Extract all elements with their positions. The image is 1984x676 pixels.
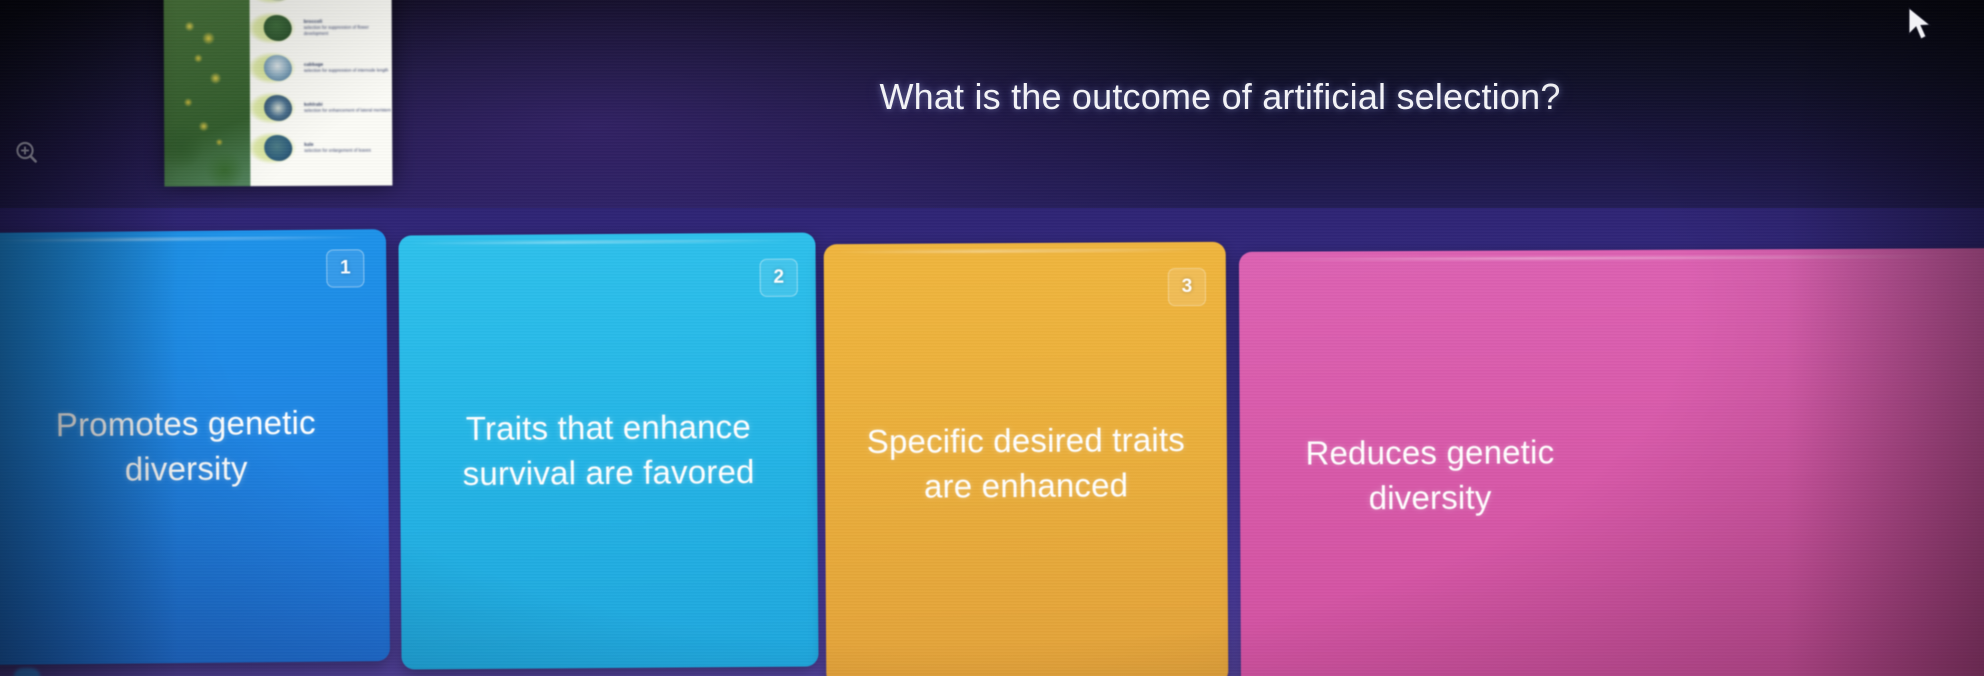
veg-desc: selection for enhancement of lateral mer…: [304, 107, 392, 113]
answer-card-2[interactable]: 2 Traits that enhance survival are favor…: [398, 232, 818, 669]
leaf-shape-icon: [250, 128, 302, 168]
veg-desc: selection for suppression of flower deve…: [304, 24, 392, 37]
leaf-shape-icon: [250, 88, 302, 128]
answer-badge: 1: [326, 249, 364, 287]
answer-label: Promotes genetic diversity: [8, 400, 364, 493]
mouse-pointer-icon: [1905, 6, 1935, 51]
slide-thumbnail-artificial-selection[interactable]: sterility of flowers broccoli selection …: [164, 0, 393, 186]
answer-card-3[interactable]: 3 Specific desired traits are enhanced: [824, 242, 1229, 676]
veg-item-cabbage: cabbage selection for suppression of int…: [250, 48, 392, 89]
answers-panel: 1 Promotes genetic diversity 2 Traits th…: [0, 208, 1984, 676]
veg-item-kale: kale selection for enlargement of leaves: [250, 128, 392, 169]
answer-label: Traits that enhance survival are favored: [425, 405, 793, 497]
leaf-shape-icon: [250, 48, 302, 88]
answer-label: Specific desired traits are enhanced: [849, 418, 1203, 510]
veg-desc: selection for suppression of internode l…: [304, 67, 392, 73]
veg-item-kohlrabi: kohlrabi selection for enhancement of la…: [250, 88, 392, 129]
wild-mustard-photo: [164, 0, 251, 186]
quiz-screen: sterility of flowers broccoli selection …: [0, 0, 1984, 676]
leaf-shape-icon: [249, 0, 301, 8]
veg-desc: selection for enlargement of leaves: [304, 147, 392, 153]
foreground-object-accent: [14, 668, 40, 676]
answer-badge: 2: [760, 259, 798, 297]
answer-label: Reduces genetic diversity: [1255, 430, 1605, 521]
question-text: What is the outcome of artificial select…: [690, 76, 1750, 118]
answer-card-4[interactable]: 4 Reduces genetic diversity: [1239, 248, 1984, 676]
derived-vegetables-column: sterility of flowers broccoli selection …: [250, 0, 393, 186]
answer-badge: 3: [1168, 268, 1206, 306]
magnifier-plus-icon[interactable]: [12, 138, 42, 168]
answer-card-1[interactable]: 1 Promotes genetic diversity: [0, 229, 390, 665]
leaf-shape-icon: [250, 8, 302, 48]
veg-item-broccoli: broccoli selection for suppression of fl…: [250, 8, 392, 49]
